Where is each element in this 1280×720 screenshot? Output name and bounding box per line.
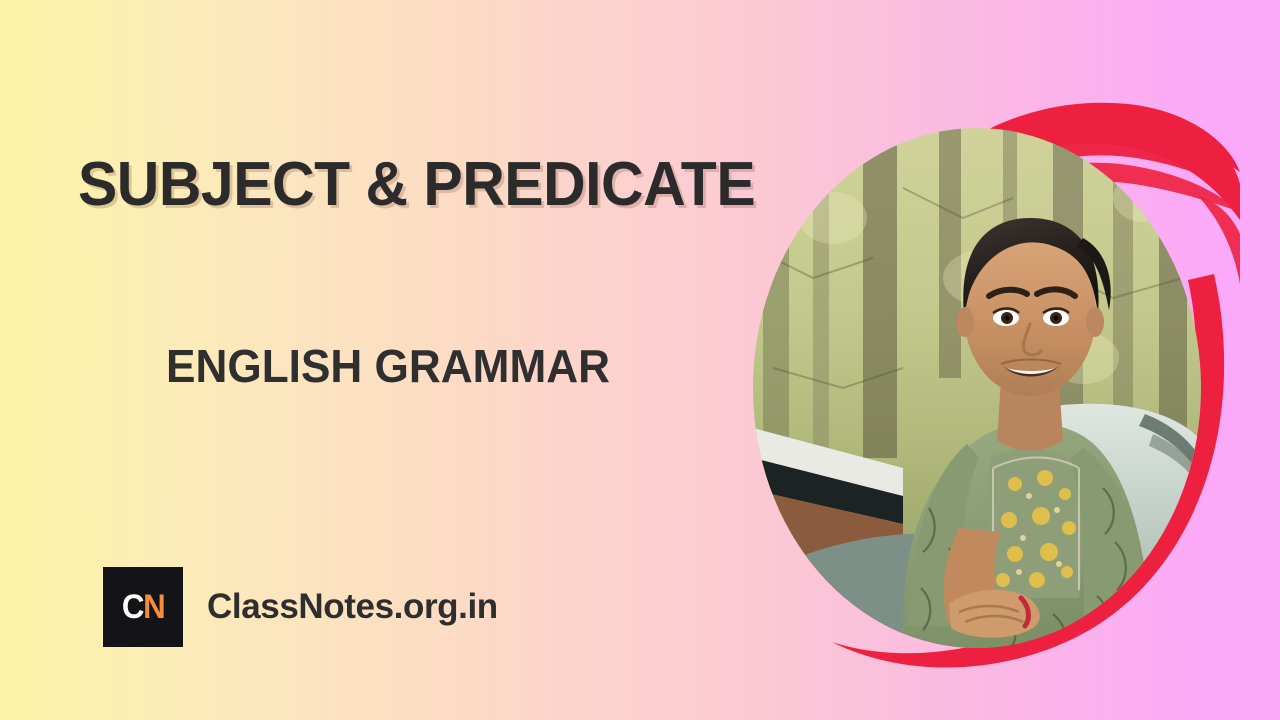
page-title: SUBJECT & PREDICATE [78, 152, 743, 217]
website-label: ClassNotes.org.in [207, 587, 498, 627]
logo-letter-n: N [143, 588, 164, 626]
subtitle: ENGLISH GRAMMAR [166, 342, 610, 390]
logo-letter-c: C [122, 588, 143, 626]
brand-footer: CN ClassNotes.org.in [103, 567, 498, 647]
logo-monogram: CN [122, 590, 164, 624]
video-thumbnail: SUBJECT & PREDICATE ENGLISH GRAMMAR CN C… [0, 0, 1280, 720]
instructor-photo [753, 128, 1201, 648]
classnotes-logo-icon: CN [103, 567, 183, 647]
portrait-frame [736, 44, 1240, 676]
title-block: SUBJECT & PREDICATE ENGLISH GRAMMAR [78, 152, 778, 217]
instructor-photo-image [753, 128, 1201, 648]
